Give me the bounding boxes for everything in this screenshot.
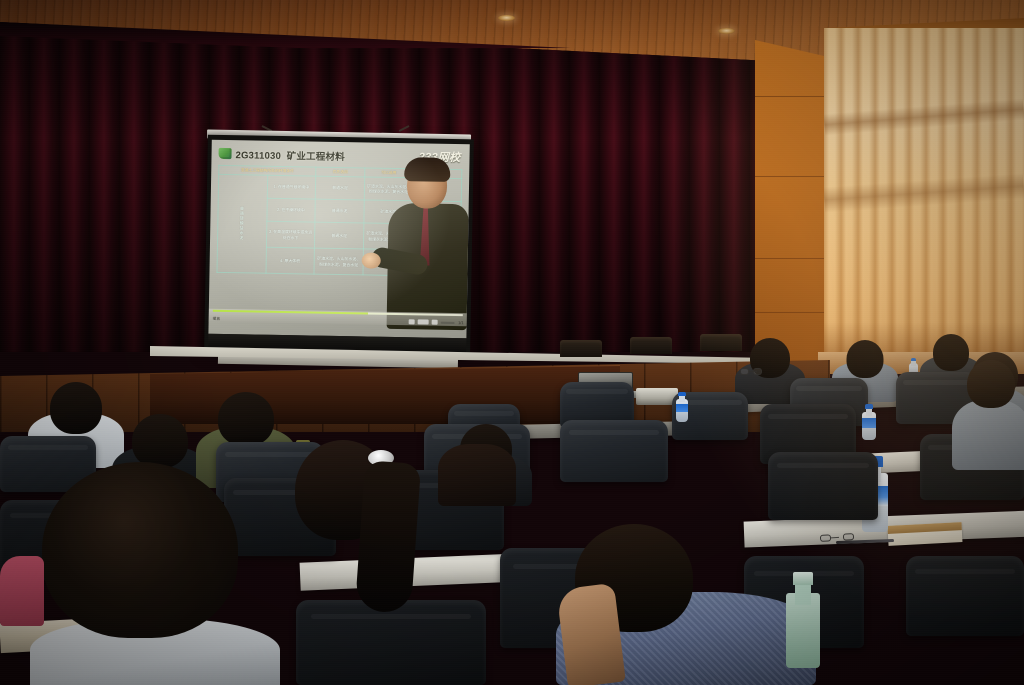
slide-watermark: 233网校 [419, 148, 461, 165]
screen-canvas: 2G311030 矿业工程材料 233网校 混凝土工程结构所处的环境条件 优先选… [208, 140, 469, 338]
bottle-neck [795, 584, 811, 605]
td-prefer: 普通水泥 [315, 199, 364, 223]
ceiling-downlight-2 [718, 28, 735, 34]
td-forbid [413, 178, 462, 202]
person-left-edge-sleeve [0, 556, 44, 626]
bottle-label [676, 404, 688, 412]
td-allow: 矿渣水泥、火山灰水泥、粉煤灰水泥、复合水泥 [364, 177, 413, 201]
player-time-label: 播放 [213, 317, 221, 322]
bottle-neck [679, 396, 685, 403]
player-controls[interactable]: 1/1 [409, 319, 464, 325]
head [42, 462, 238, 638]
bottle-cap [865, 404, 873, 409]
bottle-neck [911, 361, 915, 366]
td-prefer: 普通水泥 [315, 222, 364, 249]
head [50, 382, 102, 434]
lecture-hall-photo: 2G311030 矿业工程材料 233网校 混凝土工程结构所处的环境条件 优先选… [0, 0, 1024, 685]
glasses-bridge [831, 537, 839, 538]
seat-row3-4 [560, 420, 668, 482]
seat-front-right-4 [906, 556, 1024, 636]
bottle-cap [911, 358, 916, 361]
glasses-bridge [749, 371, 757, 372]
slide-course-code: 2G311030 [235, 150, 281, 162]
person-man-blue-pattern-shirt [556, 524, 816, 685]
ceiling-downlight-1 [498, 15, 515, 21]
person-center-back-small [438, 444, 516, 506]
screen-frame: 2G311030 矿业工程材料 233网校 混凝土工程结构所处的环境条件 优先选… [204, 135, 474, 355]
player-progress-bar[interactable] [213, 310, 463, 316]
player-play-icon[interactable] [418, 319, 429, 324]
head [218, 392, 274, 446]
td-row-label: 普通硅酸盐水泥 [217, 174, 267, 273]
td-forbid [411, 250, 460, 277]
screen-support-arm-right [399, 125, 410, 132]
notebook [888, 522, 963, 546]
td-forbid: 火山灰水泥、粉煤灰水泥 [412, 201, 461, 225]
row-label-text: 普通硅酸盐水泥 [239, 206, 245, 240]
bottle-cap [793, 572, 813, 585]
slide-title: 2G311030 矿业工程材料 [235, 147, 345, 163]
slide-header: 2G311030 矿业工程材料 233网校 [218, 146, 462, 165]
lens-right [843, 533, 854, 541]
ponytail [355, 460, 421, 614]
bottle-blue-cap-right [862, 404, 876, 440]
bottle-green-cap [786, 572, 820, 668]
slide-title-text: 矿业工程材料 [287, 151, 345, 163]
td-allow: 普通水泥 [363, 249, 412, 276]
head [132, 414, 188, 468]
td-item: 1. 在普通气候环境中 [267, 175, 316, 199]
slide-comparison-table: 混凝土工程结构所处的环境条件 优先选用 可以选用 不得使用 普通硅酸盐水泥 1.… [216, 165, 462, 277]
td-prefer: 普通水泥 [315, 176, 364, 200]
td-allow: 矿渣水泥 [364, 200, 413, 224]
player-prev-icon[interactable] [409, 319, 415, 324]
person-foreground-white-shirt [30, 462, 280, 685]
torso [952, 400, 1024, 470]
head [847, 340, 884, 378]
bottle-label [862, 418, 876, 427]
td-allow: 矿渣水泥、火山灰水泥、粉煤灰水泥、复合水泥 [363, 223, 412, 250]
player-next-icon[interactable] [432, 320, 438, 325]
forearm [556, 583, 626, 685]
head [967, 360, 1015, 408]
person-right-grey-front [952, 360, 1024, 470]
td-prefer: 矿渣水泥、火山灰水泥、粉煤灰水泥、复合水泥 [314, 248, 363, 275]
lens-left [740, 368, 749, 375]
td-forbid [412, 224, 461, 251]
projection-screen: 2G311030 矿业工程材料 233网校 混凝土工程结构所处的环境条件 优先选… [203, 124, 475, 372]
td-item: 4. 厚大体积 [266, 247, 315, 274]
green-leaf-icon [218, 148, 231, 159]
player-counter: 1/1 [458, 320, 464, 325]
player-volume-slider[interactable] [441, 321, 455, 323]
td-item: 3. 在高温度环境中或永远处在水下 [266, 221, 315, 248]
bottle-neck [866, 408, 873, 416]
table-row: 普通硅酸盐水泥 1. 在普通气候环境中 普通水泥 矿渣水泥、火山灰水泥、粉煤灰水… [218, 174, 461, 201]
seat-front-right-2 [768, 452, 878, 520]
window-with-sheer-curtain [824, 28, 1024, 368]
bottle-blue-cap-mid [676, 392, 688, 422]
eyeglasses-worn [740, 368, 762, 374]
bottle-cap [678, 392, 685, 396]
td-item: 2. 在干燥环境中 [266, 198, 315, 222]
media-player-bar[interactable]: 播放 1/1 [209, 309, 467, 327]
stage-chair-2 [630, 337, 672, 354]
lens-left [820, 534, 831, 542]
stage-chair-1 [560, 340, 602, 357]
projected-slide: 2G311030 矿业工程材料 233网校 混凝土工程结构所处的环境条件 优先选… [208, 140, 469, 338]
